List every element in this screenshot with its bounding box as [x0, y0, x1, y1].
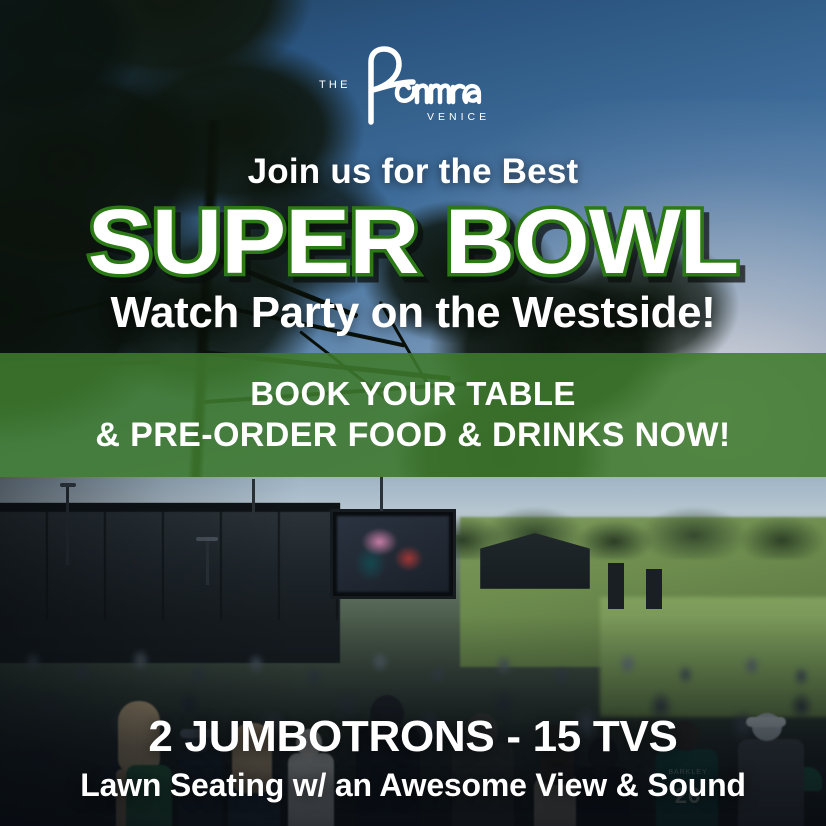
headline-super-bowl: SUPER BOWL — [0, 196, 826, 288]
cta-line-preorder: & PRE-ORDER FOOD & DRINKS NOW! — [95, 417, 730, 454]
jumbotron-screen — [330, 509, 456, 599]
speaker-stack — [646, 569, 662, 609]
call-to-action-band[interactable]: BOOK YOUR TABLE & PRE-ORDER FOOD & DRINK… — [0, 353, 826, 477]
cta-line-book-your-table: BOOK YOUR TABLE — [250, 376, 576, 412]
crowd-watch-party-photo: BARKLEY 26 — [0, 477, 826, 826]
super-bowl-watch-party-poster: BARKLEY 26 THE VENICE Join us for the Be… — [0, 0, 826, 826]
bottom-shadow-overlay — [0, 616, 826, 826]
eyebrow-text: Join us for the Best — [0, 152, 826, 192]
speaker-stack — [608, 563, 624, 609]
jumbotron-screen-content — [337, 516, 449, 592]
light-pole — [380, 477, 383, 511]
subheadline-text: Watch Party on the Westside! — [0, 288, 826, 338]
